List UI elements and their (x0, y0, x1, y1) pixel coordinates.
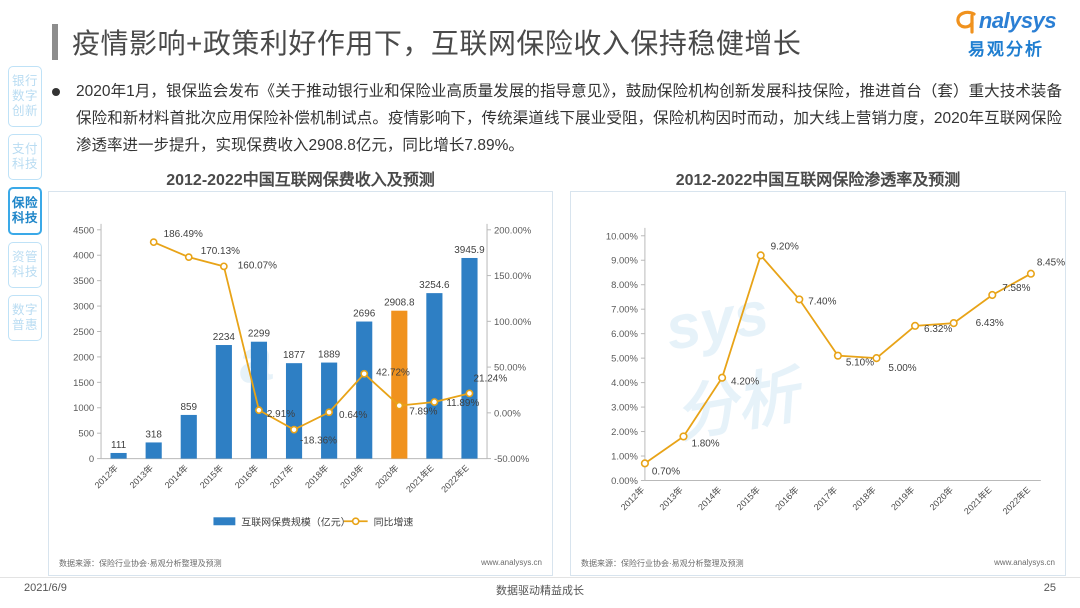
right-chart-svg: sys分析0.00%1.00%2.00%3.00%4.00%5.00%6.00%… (571, 192, 1065, 575)
left-chart-svg: a050010001500200025003000350040004500-50… (49, 192, 552, 575)
svg-text:2021年E: 2021年E (403, 462, 435, 494)
svg-text:2018年: 2018年 (302, 462, 330, 490)
sidebar-item-assetmgmt[interactable]: 资管科技 (8, 242, 42, 288)
svg-text:2014年: 2014年 (162, 462, 190, 490)
footer-page-number: 25 (1044, 582, 1056, 594)
svg-text:2908.8: 2908.8 (384, 298, 415, 309)
footer-divider (0, 577, 1080, 578)
svg-text:6.00%: 6.00% (611, 329, 638, 340)
title-text: 疫情影响+政策利好作用下，互联网保险收入保持稳健增长 (72, 22, 801, 62)
svg-text:21.24%: 21.24% (473, 373, 507, 384)
svg-text:分析: 分析 (670, 360, 811, 451)
svg-text:859: 859 (180, 402, 197, 413)
svg-text:3254.6: 3254.6 (419, 280, 450, 291)
svg-text:2015年: 2015年 (197, 462, 225, 490)
svg-text:同比增速: 同比增速 (374, 515, 414, 528)
svg-text:7.00%: 7.00% (611, 305, 638, 316)
logo-wordmark: nalysys (979, 10, 1056, 32)
svg-text:186.49%: 186.49% (164, 229, 203, 240)
svg-text:2234: 2234 (213, 332, 236, 343)
svg-text:7.40%: 7.40% (808, 296, 836, 307)
svg-text:4.20%: 4.20% (731, 377, 759, 388)
svg-text:42.72%: 42.72% (376, 368, 410, 379)
svg-text:2017年: 2017年 (811, 484, 839, 512)
svg-text:3000: 3000 (73, 302, 94, 313)
sidebar-item-payment[interactable]: 支付科技 (8, 134, 42, 180)
svg-text:0.00%: 0.00% (611, 476, 638, 487)
svg-text:2013年: 2013年 (657, 484, 685, 512)
svg-text:2022年E: 2022年E (439, 462, 471, 494)
svg-text:2019年: 2019年 (337, 462, 365, 490)
svg-text:0.70%: 0.70% (652, 466, 680, 477)
svg-text:0: 0 (89, 454, 94, 465)
svg-text:160.07%: 160.07% (238, 260, 277, 271)
svg-text:170.13%: 170.13% (201, 246, 240, 257)
svg-text:4500: 4500 (73, 225, 94, 236)
bullet-dot-icon (52, 88, 60, 96)
svg-text:2016年: 2016年 (232, 462, 260, 490)
svg-text:sys: sys (660, 278, 773, 364)
svg-text:50.00%: 50.00% (494, 363, 527, 374)
svg-text:1889: 1889 (318, 350, 341, 361)
right-source-url: www.analysys.cn (994, 558, 1055, 569)
svg-text:1877: 1877 (283, 350, 306, 361)
svg-text:6.32%: 6.32% (924, 324, 952, 335)
svg-text:5.00%: 5.00% (611, 354, 638, 365)
svg-text:2.91%: 2.91% (267, 409, 295, 420)
svg-text:-18.36%: -18.36% (300, 436, 337, 447)
svg-text:2000: 2000 (73, 352, 94, 363)
svg-text:2012年: 2012年 (618, 484, 646, 512)
slide-root: 疫情影响+政策利好作用下，互联网保险收入保持稳健增长 nalysys 易观分析 … (0, 0, 1080, 608)
svg-text:-50.00%: -50.00% (494, 454, 530, 465)
svg-text:7.89%: 7.89% (409, 407, 437, 418)
svg-text:4.00%: 4.00% (611, 378, 638, 389)
left-source-note: 数据来源：保险行业协会·易观分析整理及预测 www.analysys.cn (59, 558, 542, 569)
svg-text:2013年: 2013年 (127, 462, 155, 490)
svg-text:111: 111 (111, 440, 127, 451)
sidebar: 银行数字创新 支付科技 保险科技 资管科技 数字普惠 (8, 66, 42, 348)
svg-text:150.00%: 150.00% (494, 271, 532, 282)
logo-chinese-name: 易观分析 (946, 35, 1066, 60)
sidebar-item-inclusive[interactable]: 数字普惠 (8, 295, 42, 341)
svg-text:10.00%: 10.00% (606, 231, 639, 242)
svg-text:2018年: 2018年 (850, 484, 878, 512)
bullet-paragraph: 2020年1月，银保监会发布《关于推动银行业和保险业高质量发展的指导意见》，鼓励… (52, 78, 1062, 159)
right-chart-panel: sys分析0.00%1.00%2.00%3.00%4.00%5.00%6.00%… (570, 191, 1066, 576)
svg-text:0.00%: 0.00% (494, 408, 521, 419)
svg-text:7.58%: 7.58% (1002, 283, 1030, 294)
svg-text:11.89%: 11.89% (446, 398, 479, 409)
svg-text:5.00%: 5.00% (888, 363, 916, 374)
svg-text:2020年: 2020年 (927, 484, 955, 512)
svg-text:9.20%: 9.20% (771, 241, 799, 252)
title-accent-bar (52, 24, 58, 60)
right-source-note: 数据来源：保险行业协会·易观分析整理及预测 www.analysys.cn (581, 558, 1055, 569)
sidebar-item-insurance[interactable]: 保险科技 (8, 187, 42, 235)
svg-text:5.10%: 5.10% (846, 358, 874, 369)
svg-text:2012年: 2012年 (92, 462, 120, 490)
svg-text:2017年: 2017年 (267, 462, 295, 490)
right-chart-title: 2012-2022中国互联网保险渗透率及预测 (570, 166, 1066, 190)
svg-text:8.45%: 8.45% (1037, 258, 1065, 269)
svg-text:3945.9: 3945.9 (454, 245, 485, 256)
svg-text:200.00%: 200.00% (494, 225, 532, 236)
svg-text:2015年: 2015年 (734, 484, 762, 512)
svg-text:1.80%: 1.80% (691, 438, 719, 449)
logo-swoosh-icon (956, 10, 978, 34)
svg-text:1.00%: 1.00% (611, 452, 638, 463)
sidebar-item-bank[interactable]: 银行数字创新 (8, 66, 42, 127)
svg-text:500: 500 (78, 429, 94, 440)
left-chart-panel: a050010001500200025003000350040004500-50… (48, 191, 553, 576)
svg-text:2016年: 2016年 (773, 484, 801, 512)
svg-text:318: 318 (145, 429, 162, 440)
left-source-url: www.analysys.cn (481, 558, 542, 569)
svg-text:9.00%: 9.00% (611, 256, 638, 267)
svg-text:8.00%: 8.00% (611, 280, 638, 291)
right-source-text: 数据来源：保险行业协会·易观分析整理及预测 (581, 558, 744, 569)
svg-text:2022年E: 2022年E (1000, 484, 1032, 516)
left-source-text: 数据来源：保险行业协会·易观分析整理及预测 (59, 558, 222, 569)
svg-text:100.00%: 100.00% (494, 317, 532, 328)
footer: 2021/6/9 数据驱动精益成长 25 (0, 580, 1080, 602)
analysys-logo: nalysys 易观分析 (946, 10, 1066, 60)
svg-text:2.00%: 2.00% (611, 427, 638, 438)
svg-text:2500: 2500 (73, 327, 94, 338)
svg-text:2014年: 2014年 (695, 484, 723, 512)
svg-text:1500: 1500 (73, 378, 94, 389)
svg-text:1000: 1000 (73, 403, 94, 414)
svg-text:3.00%: 3.00% (611, 403, 638, 414)
svg-text:2019年: 2019年 (888, 484, 916, 512)
svg-text:2299: 2299 (248, 329, 271, 340)
svg-text:0.64%: 0.64% (339, 410, 367, 421)
svg-text:6.43%: 6.43% (976, 318, 1004, 329)
left-chart-title: 2012-2022中国互联网保费收入及预测 (48, 166, 553, 190)
page-title: 疫情影响+政策利好作用下，互联网保险收入保持稳健增长 (52, 22, 801, 62)
svg-text:2020年: 2020年 (373, 462, 401, 490)
svg-text:2021年E: 2021年E (961, 484, 993, 516)
footer-slogan: 数据驱动精益成长 (0, 582, 1080, 598)
svg-text:4000: 4000 (73, 251, 94, 262)
bullet-text: 2020年1月，银保监会发布《关于推动银行业和保险业高质量发展的指导意见》，鼓励… (76, 78, 1062, 159)
svg-text:3500: 3500 (73, 276, 94, 287)
svg-text:2696: 2696 (353, 309, 376, 320)
svg-text:互联网保费规模（亿元）: 互联网保费规模（亿元） (241, 515, 350, 528)
